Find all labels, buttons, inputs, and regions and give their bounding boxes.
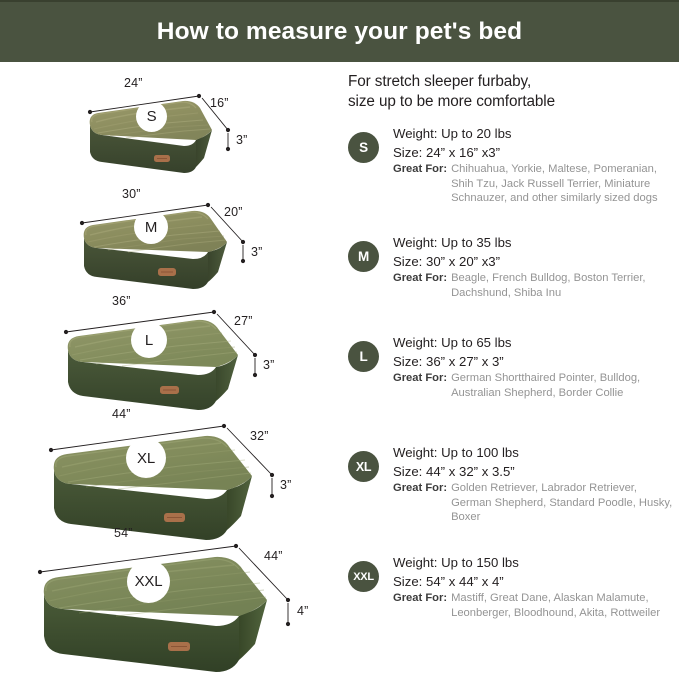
- weight-label: Weight:: [393, 235, 437, 250]
- size-badge-label: M: [358, 249, 369, 264]
- great-for-label: Great For:: [393, 271, 447, 300]
- size-label: Size:: [393, 145, 422, 160]
- size-badge-xxl: XXL: [348, 561, 379, 592]
- bed-illustration-m: M 30” 20” 3”: [52, 190, 302, 300]
- bed-illustration-l: L 36” 27” 3”: [42, 298, 314, 423]
- size-entry-text-s: Weight: Up to 20 lbs Size: 24” x 16” x3”…: [393, 125, 678, 206]
- dim-label-height-xxl: 4”: [297, 604, 309, 618]
- weight-label: Weight:: [393, 335, 437, 350]
- dim-label-depth-xxl: 44”: [264, 549, 283, 563]
- size-value: 54” x 44” x 4”: [426, 574, 504, 589]
- weight-line-l: Weight: Up to 65 lbs: [393, 334, 678, 353]
- weight-value: Up to 150 lbs: [441, 555, 519, 570]
- size-badge-label: XL: [356, 460, 371, 474]
- dim-label-depth-l: 27”: [234, 314, 253, 328]
- size-value: 30” x 20” x3”: [426, 254, 500, 269]
- great-for-value: Beagle, French Bulldog, Boston Terrier, …: [451, 271, 678, 300]
- subtitle: For stretch sleeper furbaby, size up to …: [348, 72, 672, 112]
- subtitle-line-1: For stretch sleeper furbaby,: [348, 72, 672, 92]
- dim-label-height-l: 3”: [263, 358, 275, 372]
- size-label: Size:: [393, 354, 422, 369]
- dim-label-width-s: 24”: [124, 76, 143, 90]
- size-badge-xl: XL: [348, 451, 379, 482]
- size-label: Size:: [393, 574, 422, 589]
- dim-label-width-xxl: 54”: [114, 526, 133, 540]
- weight-line-xl: Weight: Up to 100 lbs: [393, 444, 678, 463]
- size-badge-label: XXL: [353, 571, 374, 583]
- weight-line-s: Weight: Up to 20 lbs: [393, 125, 678, 144]
- subtitle-line-2: size up to be more comfortable: [348, 92, 672, 112]
- great-for-label: Great For:: [393, 162, 447, 206]
- dim-label-depth-s: 16”: [210, 96, 229, 110]
- dim-label-height-xl: 3”: [280, 478, 292, 492]
- bed-illustrations: S 24” 16” 3”: [0, 62, 345, 674]
- dim-label-width-xl: 44”: [112, 407, 131, 421]
- bed-illustration-s: S 24” 16” 3”: [62, 82, 292, 182]
- great-for-line-m: Great For: Beagle, French Bulldog, Bosto…: [393, 271, 678, 300]
- weight-value: Up to 20 lbs: [441, 126, 511, 141]
- great-for-value: Mastiff, Great Dane, Alaskan Malamute, L…: [451, 591, 678, 620]
- bed-illustration-xxl: XXL 54” 44” 4”: [14, 532, 344, 674]
- weight-label: Weight:: [393, 555, 437, 570]
- great-for-line-xl: Great For: Golden Retriever, Labrador Re…: [393, 481, 678, 525]
- size-line-l: Size: 36” x 27” x 3”: [393, 353, 678, 372]
- size-entry-text-xxl: Weight: Up to 150 lbs Size: 54” x 44” x …: [393, 554, 678, 620]
- dim-label-height-s: 3”: [236, 133, 248, 147]
- weight-line-xxl: Weight: Up to 150 lbs: [393, 554, 678, 573]
- dimension-lines-xxl: [14, 532, 344, 674]
- size-badge-label: S: [359, 140, 368, 155]
- header-bar: How to measure your pet's bed: [0, 0, 679, 62]
- weight-label: Weight:: [393, 445, 437, 460]
- weight-label: Weight:: [393, 126, 437, 141]
- dimension-lines-s: [62, 82, 292, 182]
- great-for-value: Golden Retriever, Labrador Retriever, Ge…: [451, 481, 678, 525]
- size-line-xxl: Size: 54” x 44” x 4”: [393, 573, 678, 592]
- size-label: Size:: [393, 464, 422, 479]
- great-for-label: Great For:: [393, 481, 447, 525]
- dim-label-depth-m: 20”: [224, 205, 243, 219]
- dimension-lines-m: [52, 190, 302, 300]
- great-for-line-s: Great For: Chihuahua, Yorkie, Maltese, P…: [393, 162, 678, 206]
- great-for-line-l: Great For: German Shortthaired Pointer, …: [393, 371, 678, 400]
- size-value: 44” x 32” x 3.5”: [426, 464, 515, 479]
- great-for-value: German Shortthaired Pointer, Bulldog, Au…: [451, 371, 678, 400]
- size-badge-m: M: [348, 241, 379, 272]
- size-line-xl: Size: 44” x 32” x 3.5”: [393, 463, 678, 482]
- great-for-label: Great For:: [393, 591, 447, 620]
- weight-value: Up to 100 lbs: [441, 445, 519, 460]
- great-for-value: Chihuahua, Yorkie, Maltese, Pomeranian, …: [451, 162, 678, 206]
- page-title: How to measure your pet's bed: [157, 18, 522, 46]
- dim-label-width-l: 36”: [112, 294, 131, 308]
- size-badge-l: L: [348, 341, 379, 372]
- bed-illustration-xl: XL 44” 32” 3”: [26, 412, 326, 552]
- size-entry-text-xl: Weight: Up to 100 lbs Size: 44” x 32” x …: [393, 444, 678, 525]
- dim-label-depth-xl: 32”: [250, 429, 269, 443]
- size-line-m: Size: 30” x 20” x3”: [393, 253, 678, 272]
- weight-value: Up to 35 lbs: [441, 235, 511, 250]
- size-value: 24” x 16” x3”: [426, 145, 500, 160]
- size-label: Size:: [393, 254, 422, 269]
- great-for-label: Great For:: [393, 371, 447, 400]
- size-line-s: Size: 24” x 16” x3”: [393, 144, 678, 163]
- dim-label-height-m: 3”: [251, 245, 263, 259]
- right-column: For stretch sleeper furbaby, size up to …: [348, 72, 672, 112]
- infographic-page: How to measure your pet's bed: [0, 0, 679, 674]
- dim-label-width-m: 30”: [122, 187, 141, 201]
- weight-value: Up to 65 lbs: [441, 335, 511, 350]
- size-badge-label: L: [359, 349, 367, 364]
- size-badge-s: S: [348, 132, 379, 163]
- size-entry-text-l: Weight: Up to 65 lbs Size: 36” x 27” x 3…: [393, 334, 678, 400]
- size-entry-text-m: Weight: Up to 35 lbs Size: 30” x 20” x3”…: [393, 234, 678, 300]
- weight-line-m: Weight: Up to 35 lbs: [393, 234, 678, 253]
- size-value: 36” x 27” x 3”: [426, 354, 504, 369]
- great-for-line-xxl: Great For: Mastiff, Great Dane, Alaskan …: [393, 591, 678, 620]
